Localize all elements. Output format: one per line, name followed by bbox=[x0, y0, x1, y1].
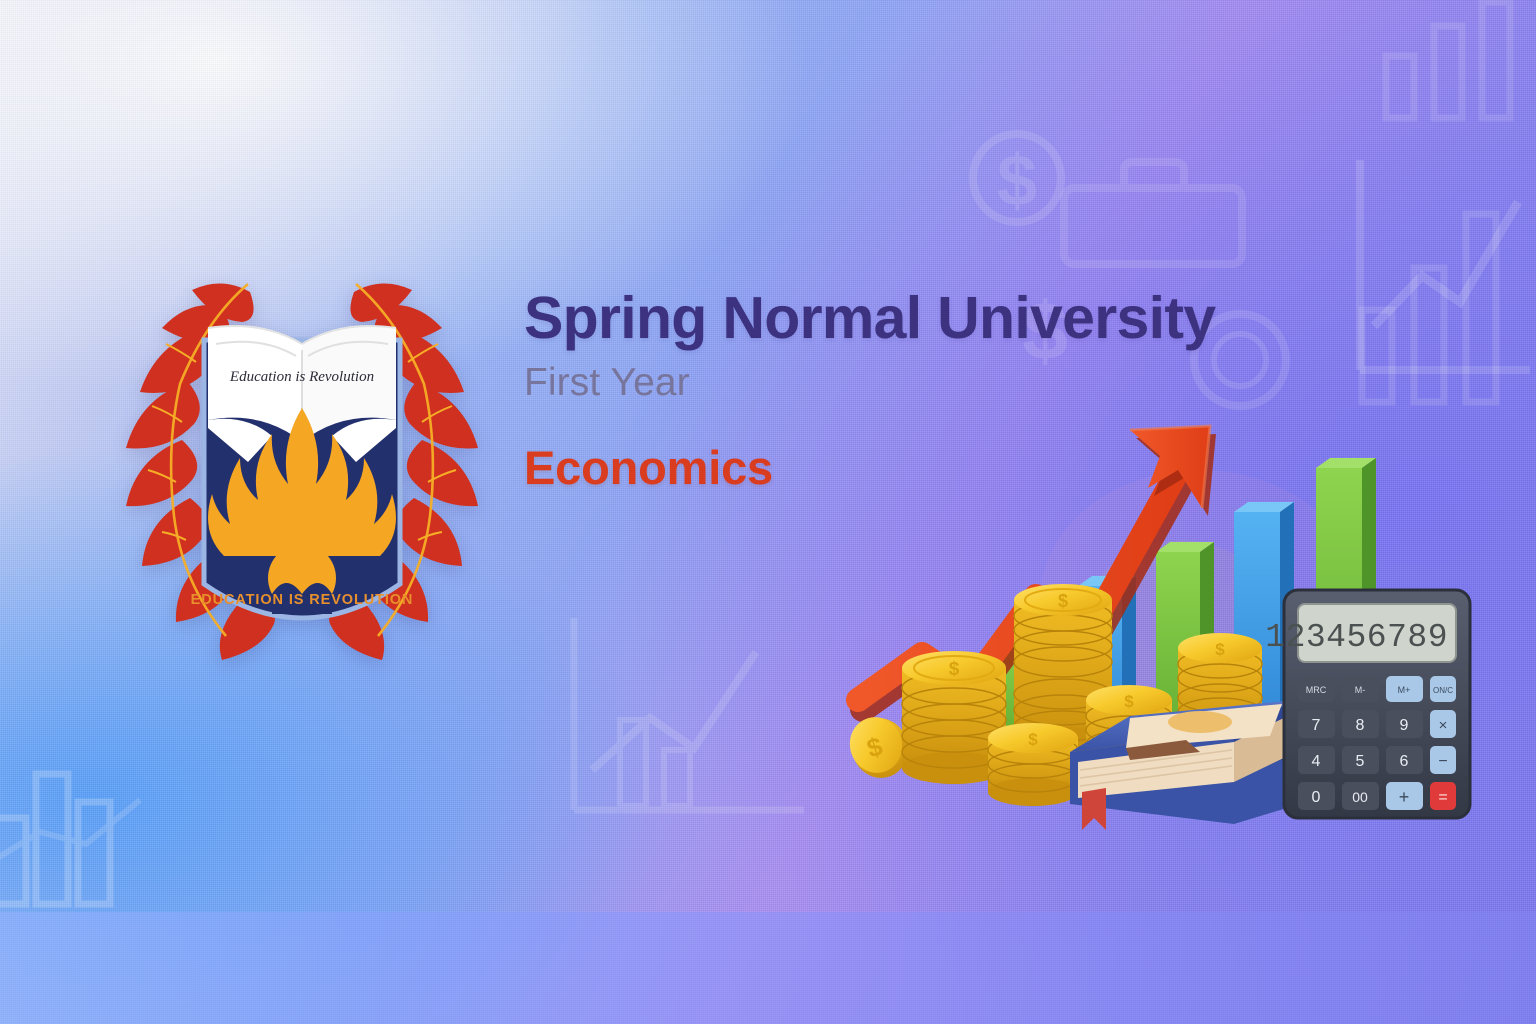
svg-text:=: = bbox=[1438, 789, 1447, 806]
svg-text:$: $ bbox=[949, 659, 960, 680]
emblem-book-motto: Education is Revolution bbox=[229, 369, 374, 385]
svg-text:$: $ bbox=[997, 141, 1037, 221]
svg-text:+: + bbox=[1399, 787, 1410, 807]
svg-text:5: 5 bbox=[1356, 753, 1365, 770]
calculator-icon: 123456789 MRC M- M+ ON/C 7 8 9 × bbox=[1265, 590, 1470, 818]
svg-text:$: $ bbox=[1215, 640, 1225, 659]
svg-text:7: 7 bbox=[1312, 717, 1321, 734]
svg-text:6: 6 bbox=[1400, 753, 1409, 770]
watermark-briefcase-icon bbox=[1050, 150, 1260, 280]
svg-text:M-: M- bbox=[1355, 685, 1366, 695]
year-label: First Year bbox=[524, 361, 1404, 405]
bottom-accent-band bbox=[0, 912, 1536, 1024]
watermark-dollar-sign-top: $ bbox=[962, 108, 1072, 248]
svg-text:8: 8 bbox=[1356, 717, 1365, 734]
svg-text:MRC: MRC bbox=[1306, 685, 1327, 695]
page-title: Spring Normal University bbox=[524, 288, 1404, 349]
course-banner: $ $ bbox=[0, 0, 1536, 1024]
svg-text:4: 4 bbox=[1312, 753, 1321, 770]
svg-text:ON/C: ON/C bbox=[1433, 686, 1453, 695]
svg-text:0: 0 bbox=[1312, 789, 1321, 806]
svg-text:×: × bbox=[1439, 717, 1448, 734]
coin-stack-c: $ bbox=[988, 723, 1078, 806]
economics-illustration: $ $ bbox=[830, 400, 1490, 830]
emblem-banner-motto: EDUCATION IS REVOLUTION bbox=[191, 592, 414, 608]
svg-text:$: $ bbox=[1058, 591, 1068, 611]
svg-text:9: 9 bbox=[1400, 717, 1409, 734]
watermark-line-chart-left bbox=[560, 600, 820, 830]
svg-text:00: 00 bbox=[1352, 789, 1368, 805]
svg-text:$: $ bbox=[1124, 692, 1134, 711]
watermark-bar-chart-upper-right bbox=[1370, 0, 1536, 130]
watermark-bar-chart-bottom-left bbox=[0, 740, 170, 910]
calculator-display: 123456789 bbox=[1265, 619, 1448, 656]
svg-text:−: − bbox=[1438, 753, 1447, 770]
svg-text:M+: M+ bbox=[1398, 685, 1411, 695]
svg-text:$: $ bbox=[1028, 730, 1038, 749]
university-emblem: Education is Revolution EDUCATION IS REV… bbox=[96, 232, 508, 660]
